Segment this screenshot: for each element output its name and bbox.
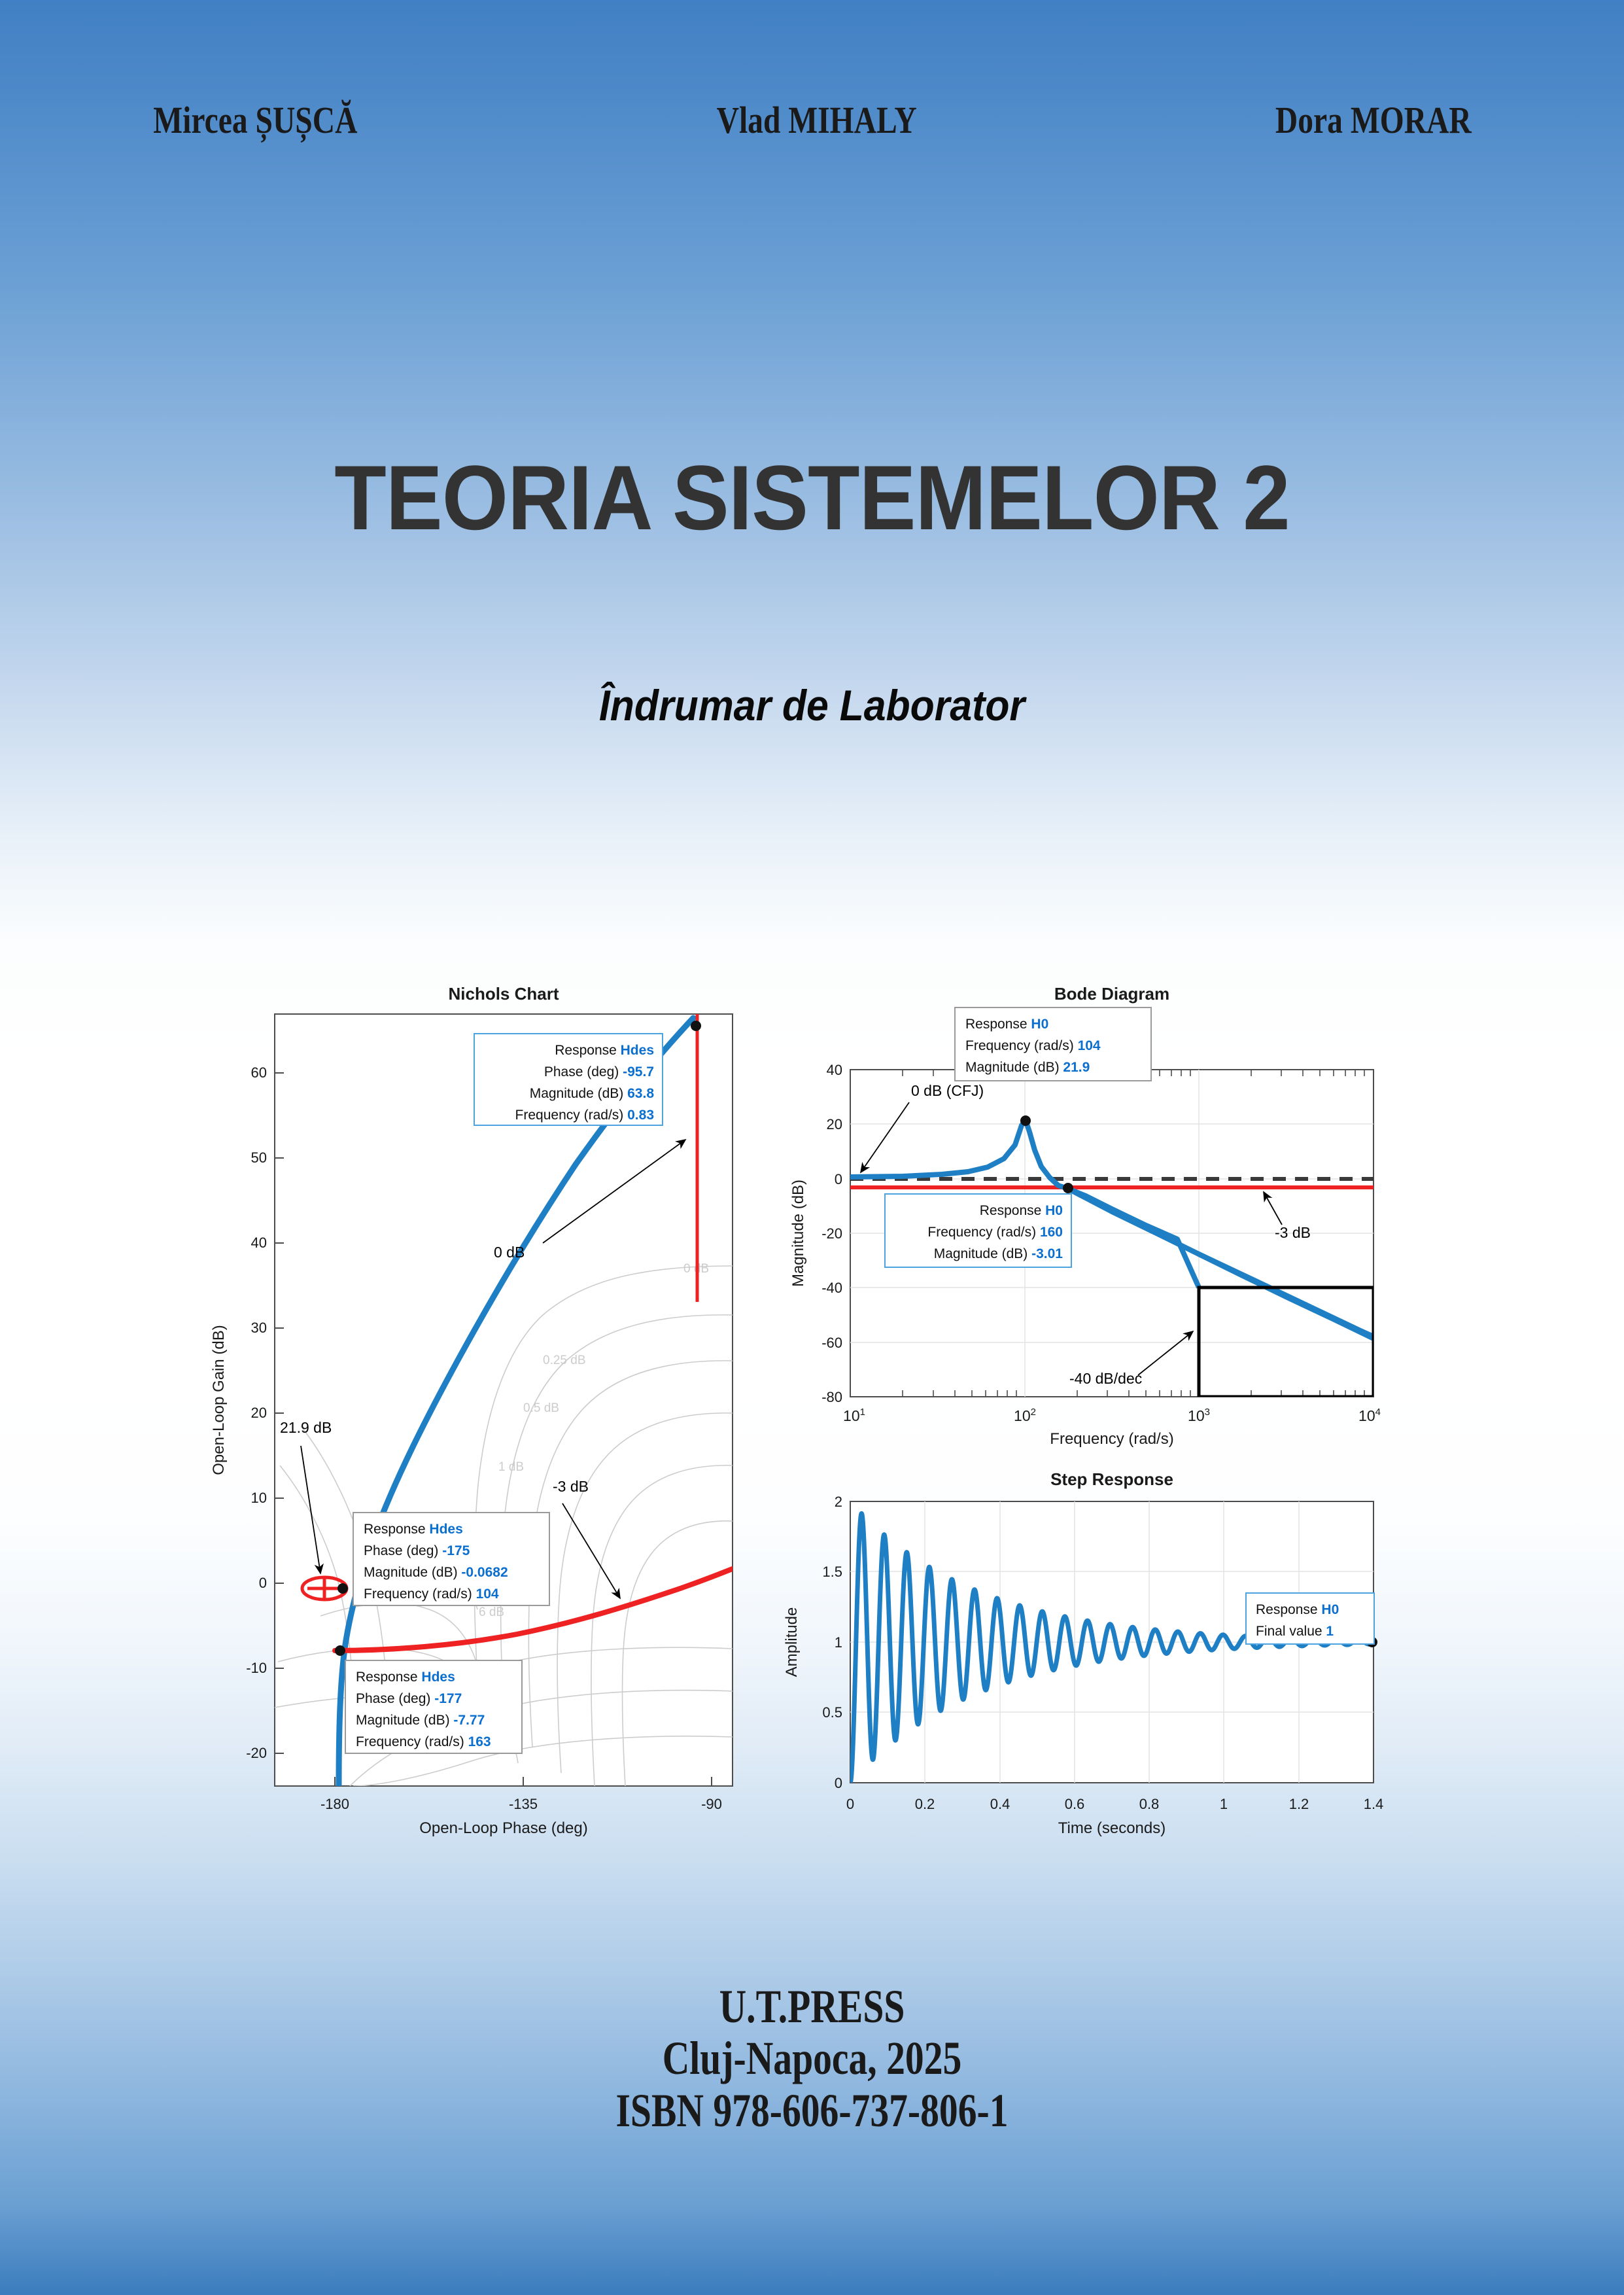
svg-text:Magnitude (dB) -7.77: Magnitude (dB) -7.77 bbox=[356, 1713, 485, 1728]
step-y-axis: 2 1.5 1 0.5 0 Amplitude bbox=[783, 1494, 842, 1791]
cover-figure-panel: Nichols Chart bbox=[196, 968, 1439, 1845]
nichols-datatip-3[interactable]: Response Hdes Phase (deg) -177 Magnitude… bbox=[345, 1660, 522, 1753]
svg-text:0: 0 bbox=[835, 1171, 842, 1187]
dt2-value-mag: -0.0682 bbox=[461, 1565, 508, 1580]
svg-text:Phase (deg) -95.7: Phase (deg) -95.7 bbox=[544, 1064, 654, 1079]
svg-text:Response H0: Response H0 bbox=[980, 1203, 1063, 1218]
svg-text:0: 0 bbox=[259, 1575, 267, 1591]
bdt1-value-response: H0 bbox=[1031, 1017, 1048, 1032]
dt2-label-phase: Phase (deg) bbox=[364, 1543, 438, 1558]
dt2-label-mag: Magnitude (dB) bbox=[364, 1565, 458, 1580]
svg-text:40: 40 bbox=[251, 1235, 267, 1251]
bdt1-value-freq: 104 bbox=[1078, 1038, 1101, 1053]
svg-text:0.6: 0.6 bbox=[1065, 1796, 1085, 1812]
dt2-value-phase: -175 bbox=[442, 1543, 470, 1558]
bode-annotation-m3db: -3 dB bbox=[1275, 1224, 1311, 1241]
svg-text:0: 0 bbox=[835, 1775, 842, 1791]
dt1-label-freq: Frequency (rad/s) bbox=[515, 1108, 624, 1123]
svg-text:-20: -20 bbox=[246, 1745, 267, 1761]
svg-text:103: 103 bbox=[1188, 1407, 1210, 1424]
bdt1-label-response: Response bbox=[965, 1017, 1031, 1032]
dt1-label-mag: Magnitude (dB) bbox=[530, 1086, 624, 1101]
bdt2-label-mag: Magnitude (dB) bbox=[934, 1246, 1028, 1261]
nichols-annotation-219db: 21.9 dB bbox=[280, 1419, 332, 1436]
bode-title: Bode Diagram bbox=[1054, 984, 1169, 1004]
svg-text:0: 0 bbox=[846, 1796, 854, 1812]
dt2-label-freq: Frequency (rad/s) bbox=[364, 1586, 472, 1602]
author-2: Vlad MIHALY bbox=[717, 98, 917, 142]
svg-text:Response Hdes: Response Hdes bbox=[364, 1522, 463, 1537]
svg-text:Phase (deg) -177: Phase (deg) -177 bbox=[356, 1691, 462, 1706]
bode-datatip-2[interactable]: Response H0 Frequency (rad/s) 160 Magnit… bbox=[885, 1194, 1071, 1267]
bode-diagram: Bode Diagram bbox=[789, 984, 1381, 1448]
sdt-label-response: Response bbox=[1256, 1602, 1321, 1617]
dt2-value-response: Hdes bbox=[429, 1522, 462, 1537]
author-3: Dora MORAR bbox=[1275, 98, 1472, 142]
svg-text:50: 50 bbox=[251, 1149, 267, 1166]
svg-text:0.5: 0.5 bbox=[822, 1704, 842, 1721]
nichols-title: Nichols Chart bbox=[448, 984, 559, 1004]
svg-text:-180: -180 bbox=[320, 1796, 349, 1812]
nichols-y-axis: 60 50 40 30 20 10 0 -10 -20 bbox=[210, 1064, 284, 1761]
dt1-label-phase: Phase (deg) bbox=[544, 1064, 619, 1079]
svg-text:104: 104 bbox=[1358, 1407, 1381, 1424]
svg-text:-135: -135 bbox=[509, 1796, 538, 1812]
nichols-annotation-m3db: -3 dB bbox=[553, 1478, 589, 1495]
step-title: Step Response bbox=[1050, 1469, 1173, 1489]
svg-text:Magnitude (dB) 21.9: Magnitude (dB) 21.9 bbox=[965, 1060, 1090, 1075]
svg-text:Magnitude (dB) 63.8: Magnitude (dB) 63.8 bbox=[530, 1086, 655, 1101]
nichols-datapoint-3 bbox=[335, 1645, 345, 1656]
bdt2-value-freq: 160 bbox=[1040, 1225, 1063, 1240]
svg-text:Frequency (rad/s) 104: Frequency (rad/s) 104 bbox=[965, 1038, 1101, 1053]
sdt-label-final: Final value bbox=[1256, 1624, 1322, 1639]
svg-text:20: 20 bbox=[251, 1405, 267, 1421]
dt1-label-response: Response bbox=[555, 1043, 620, 1058]
nichols-chart: Nichols Chart bbox=[210, 984, 733, 1837]
nichols-datapoint-1 bbox=[691, 1021, 701, 1031]
bode-x-axis: 101 102 103 104 Frequency (rad/s) bbox=[843, 1407, 1381, 1448]
svg-text:1: 1 bbox=[1220, 1796, 1228, 1812]
publisher-isbn: ISBN 978-606-737-806-1 bbox=[162, 2084, 1461, 2137]
svg-text:40: 40 bbox=[827, 1062, 842, 1078]
publisher-name: U.T.PRESS bbox=[162, 1982, 1461, 2032]
svg-text:Response Hdes: Response Hdes bbox=[356, 1670, 455, 1685]
svg-text:20: 20 bbox=[827, 1116, 842, 1132]
bode-annotation-slope: -40 dB/dec bbox=[1069, 1370, 1142, 1387]
step-response-chart: Step Response 2 1.5 1 0.5 bbox=[783, 1469, 1383, 1837]
svg-text:1.5: 1.5 bbox=[822, 1564, 842, 1580]
svg-text:6 dB: 6 dB bbox=[479, 1605, 504, 1619]
book-subtitle: Îndrumar de Laborator bbox=[65, 680, 1559, 730]
svg-text:Magnitude (dB) -0.0682: Magnitude (dB) -0.0682 bbox=[364, 1565, 508, 1580]
svg-text:1.4: 1.4 bbox=[1364, 1796, 1384, 1812]
svg-text:-80: -80 bbox=[821, 1389, 842, 1405]
nichols-ylabel: Open-Loop Gain (dB) bbox=[210, 1325, 228, 1475]
svg-text:Frequency (rad/s) 160: Frequency (rad/s) 160 bbox=[927, 1225, 1063, 1240]
book-cover: Mircea ȘUȘCĂ Vlad MIHALY Dora MORAR TEOR… bbox=[0, 0, 1624, 2295]
publisher-place-year: Cluj-Napoca, 2025 bbox=[162, 2032, 1461, 2085]
bdt2-label-response: Response bbox=[980, 1203, 1045, 1218]
svg-text:60: 60 bbox=[251, 1064, 267, 1081]
publisher-block: U.T.PRESS Cluj-Napoca, 2025 ISBN 978-606… bbox=[0, 1982, 1624, 2137]
bode-annotation-0db-cfj: 0 dB (CFJ) bbox=[911, 1082, 984, 1099]
svg-text:101: 101 bbox=[843, 1407, 865, 1424]
svg-text:Response Hdes: Response Hdes bbox=[555, 1043, 654, 1058]
svg-text:Frequency (rad/s) 163: Frequency (rad/s) 163 bbox=[356, 1734, 491, 1749]
svg-text:10: 10 bbox=[251, 1490, 267, 1506]
dt3-value-phase: -177 bbox=[434, 1691, 462, 1706]
dt2-label-response: Response bbox=[364, 1522, 429, 1537]
step-ylabel: Amplitude bbox=[783, 1607, 801, 1677]
svg-text:-90: -90 bbox=[701, 1796, 722, 1812]
svg-text:0.8: 0.8 bbox=[1139, 1796, 1160, 1812]
step-x-axis: 0 0.2 0.4 0.6 0.8 1 1.2 1.4 Time (second… bbox=[846, 1796, 1383, 1837]
svg-text:Response H0: Response H0 bbox=[1256, 1602, 1339, 1617]
svg-text:Phase (deg) -175: Phase (deg) -175 bbox=[364, 1543, 470, 1558]
author-1: Mircea ȘUȘCĂ bbox=[153, 98, 357, 142]
dt3-value-mag: -7.77 bbox=[453, 1713, 485, 1728]
dt3-value-freq: 163 bbox=[468, 1734, 491, 1749]
dt1-value-freq: 0.83 bbox=[627, 1108, 654, 1123]
svg-text:0.5 dB: 0.5 dB bbox=[523, 1401, 559, 1415]
sdt-value-final: 1 bbox=[1326, 1624, 1334, 1639]
svg-text:0.25 dB: 0.25 dB bbox=[543, 1354, 586, 1367]
bode-datapoint-peak bbox=[1020, 1115, 1031, 1126]
book-title: TEORIA SISTEMELOR 2 bbox=[57, 445, 1567, 551]
svg-text:1: 1 bbox=[835, 1634, 842, 1651]
svg-text:102: 102 bbox=[1014, 1407, 1036, 1424]
bdt2-label-freq: Frequency (rad/s) bbox=[927, 1225, 1036, 1240]
dt3-label-phase: Phase (deg) bbox=[356, 1691, 430, 1706]
sdt-value-response: H0 bbox=[1321, 1602, 1339, 1617]
svg-text:0.2: 0.2 bbox=[915, 1796, 935, 1812]
step-datatip[interactable]: Response H0 Final value 1 bbox=[1246, 1593, 1374, 1644]
svg-text:Frequency (rad/s) 104: Frequency (rad/s) 104 bbox=[364, 1586, 499, 1602]
bode-ylabel: Magnitude (dB) bbox=[789, 1180, 807, 1287]
matlab-plots-svg: Nichols Chart bbox=[196, 968, 1439, 1845]
bode-datapoint-bw bbox=[1063, 1183, 1073, 1193]
step-xlabel: Time (seconds) bbox=[1058, 1819, 1166, 1837]
svg-text:-10: -10 bbox=[246, 1660, 267, 1676]
svg-text:-60: -60 bbox=[821, 1335, 842, 1351]
dt3-label-mag: Magnitude (dB) bbox=[356, 1713, 450, 1728]
svg-text:30: 30 bbox=[251, 1320, 267, 1336]
dt1-value-response: Hdes bbox=[621, 1043, 654, 1058]
dt1-value-phase: -95.7 bbox=[623, 1064, 654, 1079]
svg-text:1.2: 1.2 bbox=[1289, 1796, 1309, 1812]
dt3-label-response: Response bbox=[356, 1670, 421, 1685]
bdt1-label-mag: Magnitude (dB) bbox=[965, 1060, 1060, 1075]
svg-text:0.4: 0.4 bbox=[990, 1796, 1011, 1812]
nichols-xlabel: Open-Loop Phase (deg) bbox=[419, 1819, 588, 1837]
bode-xlabel: Frequency (rad/s) bbox=[1050, 1430, 1173, 1448]
bode-y-axis: 40 20 0 -20 -40 -60 -80 Magnitude (dB) bbox=[789, 1062, 842, 1405]
svg-text:-20: -20 bbox=[821, 1225, 842, 1242]
svg-text:Final value 1: Final value 1 bbox=[1256, 1624, 1334, 1639]
bdt1-value-mag: 21.9 bbox=[1063, 1060, 1090, 1075]
svg-text:Frequency (rad/s) 0.83: Frequency (rad/s) 0.83 bbox=[515, 1108, 654, 1123]
nichols-annotation-0db: 0 dB bbox=[494, 1244, 525, 1261]
bdt1-label-freq: Frequency (rad/s) bbox=[965, 1038, 1074, 1053]
dt2-value-freq: 104 bbox=[476, 1586, 499, 1602]
nichols-datatip-2[interactable]: Response Hdes Phase (deg) -175 Magnitude… bbox=[353, 1513, 549, 1605]
bdt2-value-response: H0 bbox=[1045, 1203, 1063, 1218]
authors-row: Mircea ȘUȘCĂ Vlad MIHALY Dora MORAR bbox=[0, 98, 1624, 142]
svg-text:2: 2 bbox=[835, 1494, 842, 1510]
bode-datatip-1[interactable]: Response H0 Frequency (rad/s) 104 Magnit… bbox=[955, 1007, 1151, 1081]
svg-text:1 dB: 1 dB bbox=[498, 1460, 524, 1474]
svg-text:Magnitude (dB) -3.01: Magnitude (dB) -3.01 bbox=[934, 1246, 1063, 1261]
svg-text:-40: -40 bbox=[821, 1280, 842, 1296]
svg-text:Response H0: Response H0 bbox=[965, 1017, 1048, 1032]
bdt2-value-mag: -3.01 bbox=[1031, 1246, 1063, 1261]
dt3-label-freq: Frequency (rad/s) bbox=[356, 1734, 464, 1749]
nichols-datatip-1[interactable]: Response Hdes Phase (deg) -95.7 Magnitud… bbox=[474, 1034, 663, 1125]
dt3-value-response: Hdes bbox=[421, 1670, 455, 1685]
dt1-value-mag: 63.8 bbox=[627, 1086, 654, 1101]
nichols-datapoint-2 bbox=[337, 1583, 348, 1594]
